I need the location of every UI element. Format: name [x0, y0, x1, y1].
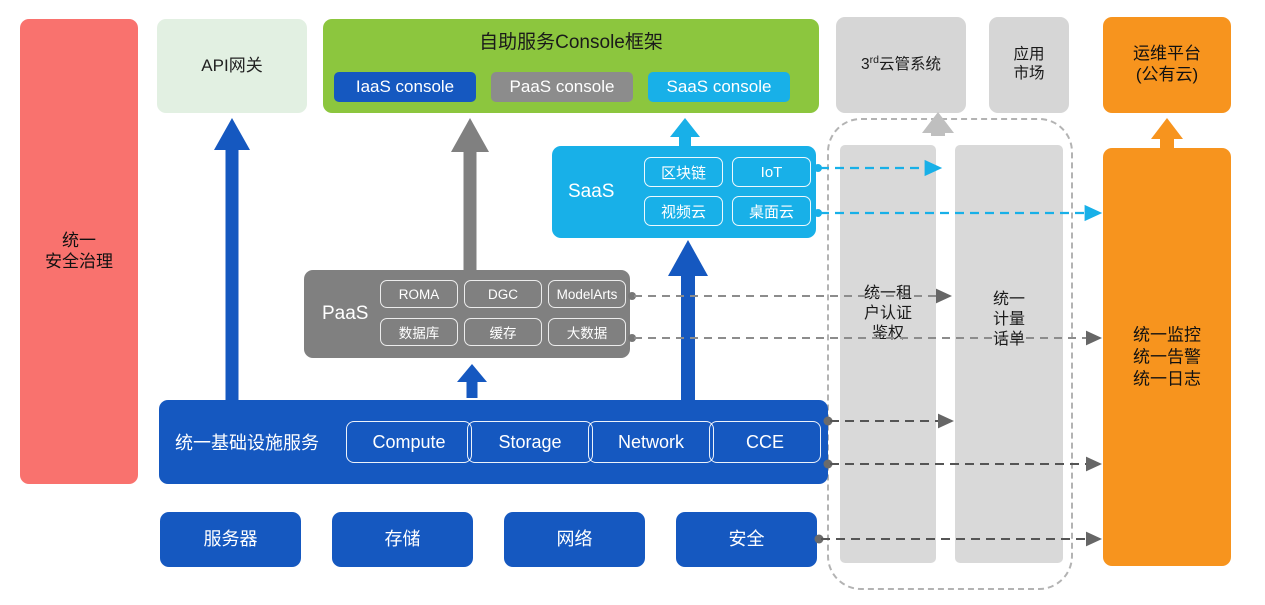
- infra-item-compute-label: Compute: [372, 432, 445, 453]
- hardware-item-storage-label: 存储: [385, 529, 421, 551]
- shared-service-auth-line2: 户认证: [840, 304, 936, 324]
- ops-panel-label: 统一监控 统一告警 统一日志: [1103, 324, 1231, 389]
- shared-service-column-metering[interactable]: 统一 计量 话单: [955, 145, 1063, 563]
- ops-panel-line3: 统一日志: [1103, 368, 1231, 390]
- paas-box[interactable]: PaaS ROMA DGC ModelArts 数据库 缓存 大数据: [304, 270, 630, 358]
- shared-service-auth-line1: 统一租: [840, 284, 936, 304]
- saas-item-desktop-cloud-label: 桌面云: [749, 201, 794, 222]
- chip-saas-console[interactable]: SaaS console: [648, 72, 790, 102]
- ops-platform-box[interactable]: 运维平台 (公有云): [1103, 17, 1231, 113]
- saas-box[interactable]: SaaS 区块链 IoT 视频云 桌面云: [552, 146, 816, 238]
- chip-iaas-console[interactable]: IaaS console: [334, 72, 476, 102]
- paas-item-bigdata-label: 大数据: [567, 322, 608, 342]
- infra-item-storage-label: Storage: [498, 432, 561, 453]
- app-market-box[interactable]: 应用 市场: [989, 17, 1069, 113]
- api-gateway-box[interactable]: API网关: [157, 19, 307, 113]
- third-party-prefix: 3: [861, 57, 870, 74]
- security-governance-line2: 安全治理: [45, 252, 113, 273]
- ops-panel[interactable]: 统一监控 统一告警 统一日志: [1103, 148, 1231, 566]
- chip-paas-console-label: PaaS console: [510, 77, 615, 97]
- arrow-ops-panel-to-ops-platform: [1151, 118, 1183, 148]
- hardware-item-storage[interactable]: 存储: [332, 512, 473, 567]
- ops-platform-label: 运维平台 (公有云): [1133, 44, 1201, 85]
- third-party-cloud-mgmt-box[interactable]: 3rd云管系统: [836, 17, 966, 113]
- app-market-line1: 应用: [1013, 46, 1044, 65]
- saas-item-desktop-cloud[interactable]: 桌面云: [732, 196, 811, 226]
- infra-item-cce-label: CCE: [746, 432, 784, 453]
- hardware-item-network[interactable]: 网络: [504, 512, 645, 567]
- app-market-label: 应用 市场: [1013, 46, 1044, 84]
- saas-item-iot[interactable]: IoT: [732, 157, 811, 187]
- arrow-infra-to-saas: [668, 240, 708, 400]
- arrow-paas-to-console: [451, 118, 489, 270]
- shared-service-auth-label: 统一租 户认证 鉴权: [840, 284, 936, 344]
- hardware-item-security[interactable]: 安全: [676, 512, 817, 567]
- paas-item-dgc[interactable]: DGC: [464, 280, 542, 308]
- shared-service-auth-line3: 鉴权: [840, 324, 936, 344]
- infra-item-compute[interactable]: Compute: [346, 421, 472, 463]
- shared-service-metering-line1: 统一: [955, 290, 1063, 310]
- paas-item-cache[interactable]: 缓存: [464, 318, 542, 346]
- arrow-saas-to-saas-console: [670, 118, 700, 146]
- chip-saas-console-label: SaaS console: [667, 77, 772, 97]
- hardware-item-server-label: 服务器: [204, 529, 258, 551]
- infrastructure-label: 统一基础设施服务: [175, 429, 319, 455]
- hardware-item-server[interactable]: 服务器: [160, 512, 301, 567]
- architecture-diagram: 统一 安全治理 API网关 自助服务Console框架 IaaS console…: [0, 0, 1265, 605]
- ops-panel-line2: 统一告警: [1103, 346, 1231, 368]
- app-market-line2: 市场: [1013, 65, 1044, 84]
- third-party-cloud-mgmt-label: 3rd云管系统: [861, 54, 941, 75]
- infra-item-network-label: Network: [618, 432, 684, 453]
- saas-item-iot-label: IoT: [761, 164, 783, 181]
- security-governance-line1: 统一: [45, 231, 113, 252]
- self-service-console-frame[interactable]: 自助服务Console框架 IaaS console PaaS console …: [323, 19, 819, 113]
- paas-item-roma-label: ROMA: [399, 287, 440, 302]
- paas-item-modelarts-label: ModelArts: [557, 287, 618, 302]
- chip-iaas-console-label: IaaS console: [356, 77, 454, 97]
- hardware-item-security-label: 安全: [729, 529, 765, 551]
- shared-service-column-auth[interactable]: 统一租 户认证 鉴权: [840, 145, 936, 563]
- third-party-sup: rd: [870, 54, 879, 66]
- shared-service-metering-line2: 计量: [955, 310, 1063, 330]
- ops-platform-line2: (公有云): [1133, 65, 1201, 86]
- paas-item-database-label: 数据库: [399, 322, 440, 342]
- api-gateway-label: API网关: [201, 56, 262, 77]
- infrastructure-bar[interactable]: 统一基础设施服务 Compute Storage Network CCE: [159, 400, 828, 484]
- paas-item-modelarts[interactable]: ModelArts: [548, 280, 626, 308]
- console-frame-title: 自助服务Console框架: [323, 27, 819, 54]
- infra-item-storage[interactable]: Storage: [467, 421, 593, 463]
- security-governance-column[interactable]: 统一 安全治理: [20, 19, 138, 484]
- arrow-infra-to-api-gateway: [214, 118, 250, 400]
- third-party-rest: 云管系统: [879, 57, 941, 74]
- saas-item-video-cloud-label: 视频云: [661, 201, 706, 222]
- infra-item-cce[interactable]: CCE: [709, 421, 821, 463]
- saas-item-blockchain-label: 区块链: [661, 162, 706, 183]
- arrow-infra-to-paas: [457, 364, 487, 398]
- hardware-item-network-label: 网络: [557, 529, 593, 551]
- paas-item-cache-label: 缓存: [490, 322, 517, 342]
- paas-item-roma[interactable]: ROMA: [380, 280, 458, 308]
- infra-item-network[interactable]: Network: [588, 421, 714, 463]
- chip-paas-console[interactable]: PaaS console: [491, 72, 633, 102]
- shared-service-metering-line3: 话单: [955, 330, 1063, 350]
- shared-service-metering-label: 统一 计量 话单: [955, 290, 1063, 350]
- ops-panel-line1: 统一监控: [1103, 324, 1231, 346]
- saas-item-blockchain[interactable]: 区块链: [644, 157, 723, 187]
- paas-item-bigdata[interactable]: 大数据: [548, 318, 626, 346]
- ops-platform-line1: 运维平台: [1133, 44, 1201, 65]
- saas-label: SaaS: [568, 181, 614, 203]
- paas-item-database[interactable]: 数据库: [380, 318, 458, 346]
- paas-item-dgc-label: DGC: [488, 287, 518, 302]
- security-governance-label: 统一 安全治理: [45, 231, 113, 272]
- paas-label: PaaS: [322, 303, 368, 325]
- saas-item-video-cloud[interactable]: 视频云: [644, 196, 723, 226]
